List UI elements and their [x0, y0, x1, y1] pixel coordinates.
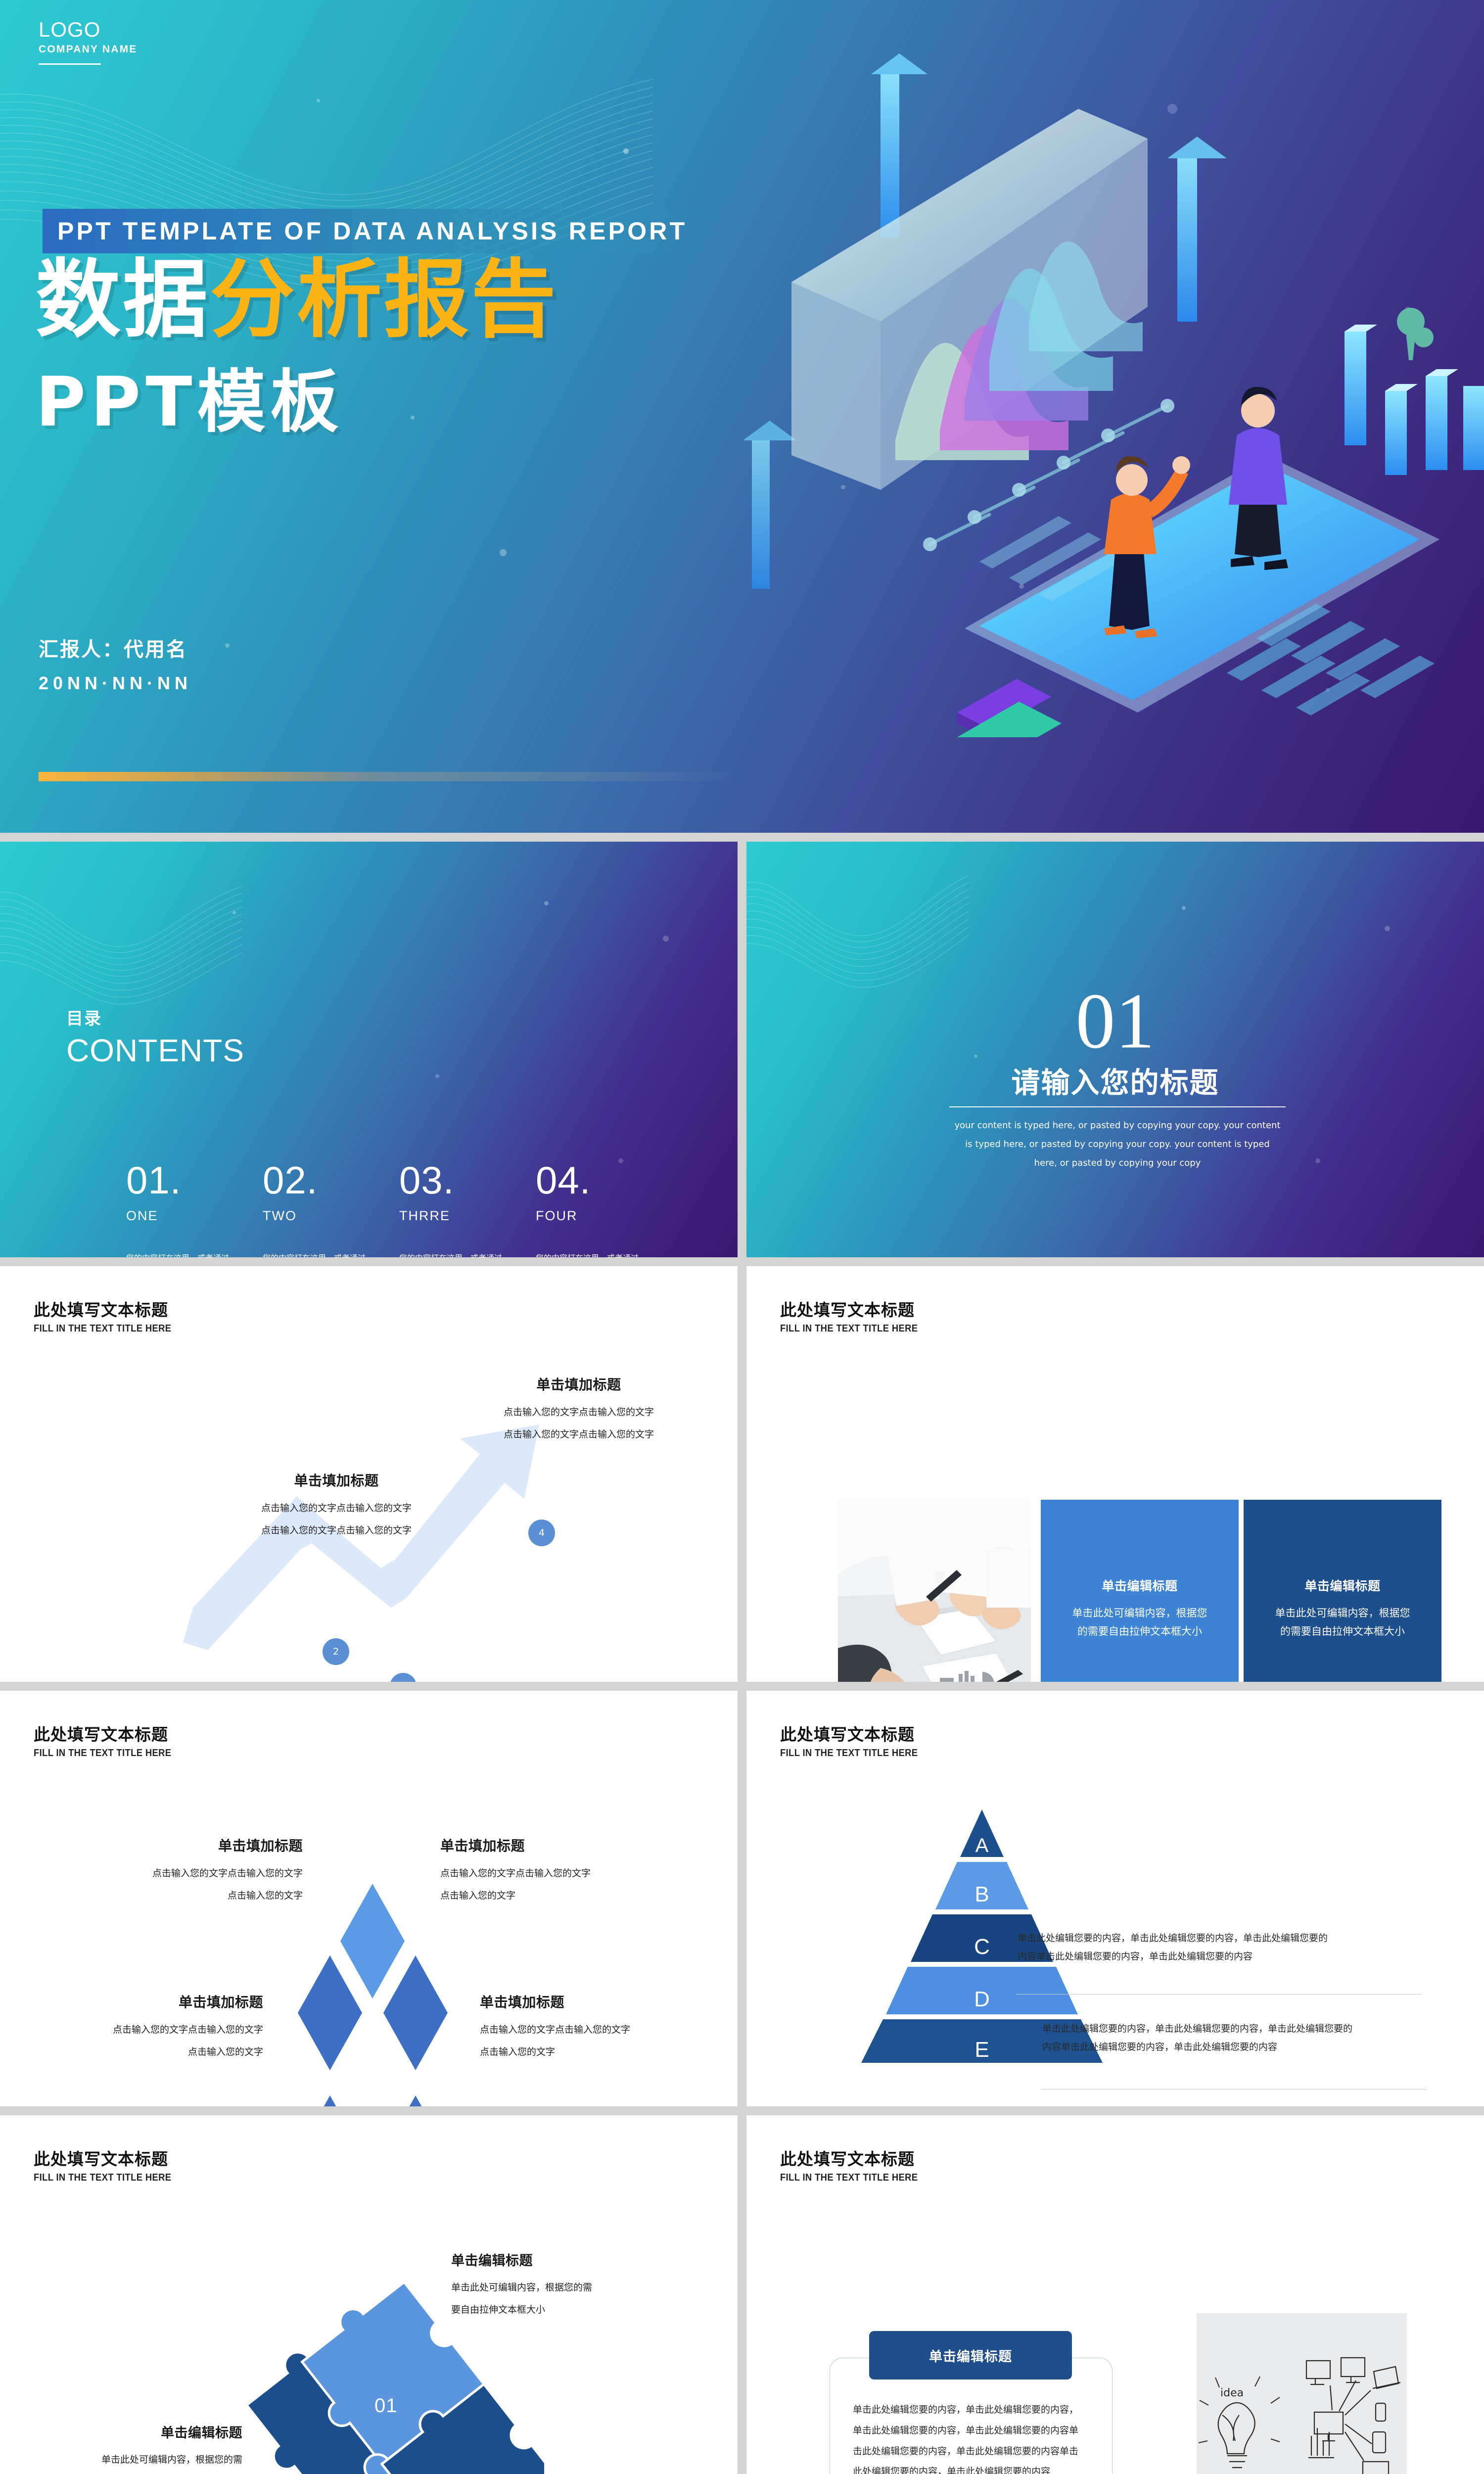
company-name-text: COMPANY NAME [39, 44, 137, 55]
cover-title-yellow-part: 分析报告 [210, 250, 558, 349]
caption-line-1: 点击输入您的文字点击输入您的文字 [465, 1402, 693, 1423]
pyramid-text-B-line2: 内容单击此处编辑您要的内容，单击此处编辑您要的内容 [1042, 2038, 1433, 2056]
puzzle-slide[interactable]: 此处填写文本标题 FILL IN THE TEXT TITLE HERE 01 … [0, 2115, 738, 2474]
logo-block: LOGO COMPANY NAME [39, 19, 137, 65]
slide-title-en: FILL IN THE TEXT TITLE HERE [34, 2172, 171, 2184]
diamond-shape-lower-right [383, 2095, 448, 2106]
card-1-line-1: 单击此处编辑您要的内容，单击此处编辑您要的内容， [853, 2400, 1100, 2421]
section-divider-rule [949, 1106, 1286, 1107]
toc-item-list: 01. ONE 您的内容打在这里，或者通过复制您的文本后，在此框中选择粘贴，并选… [126, 1161, 672, 1257]
puzzle-caption-2: 单击编辑标题 单击此处可编辑内容，根据您的需 要自由拉伸文本框大小 [30, 2422, 242, 2474]
slide-title-cn: 此处填写文本标题 [34, 1297, 184, 1321]
pyramid-text-B: 单击此处编辑您要的内容，单击此处编辑您要的内容，单击此处编辑您要的 内容单击此处… [1042, 2020, 1433, 2056]
cover-presenter: 汇报人：代用名 [39, 633, 187, 662]
caption-line-1: 点击输入您的文字点击输入您的文字 [480, 2019, 684, 2041]
diamond-shape-upper-left [298, 1955, 362, 2070]
svg-text:E: E [974, 2038, 989, 2062]
caption-line-1: 点击输入您的文字点击输入您的文字 [99, 1863, 303, 1884]
toc-item-number: 03. [399, 1161, 536, 1199]
cover-date: 20NN·NN·NN [39, 673, 192, 694]
cover-title-white-part: 数据 [36, 250, 210, 349]
slide-title-cn: 此处填写文本标题 [780, 1721, 930, 1745]
caption-line-1: 单击此处可编辑内容，根据您的需 [451, 2277, 664, 2298]
cover-subtitle-line: PPT模板 [36, 346, 343, 445]
slide-title-cn: 此处填写文本标题 [34, 2146, 184, 2170]
diamond-caption-4: 单击填加标题 点击输入您的文字点击输入您的文字 点击输入您的文字 [480, 1992, 684, 2063]
pyramid-divider-1 [1016, 1994, 1422, 1995]
pyramid-slide[interactable]: 此处填写文本标题 FILL IN THE TEXT TITLE HERE A B… [746, 1691, 1484, 2106]
caption-line-1: 点击输入您的文字点击输入您的文字 [59, 2019, 263, 2041]
card-1-line-3: 击此处编辑您要的内容，单击此处编辑您要的内容单击 [853, 2441, 1100, 2462]
toc-item-3[interactable]: 03. THRRE 您的内容打在这里，或者通过复制您的文本后，在此框中选择粘贴，… [399, 1161, 536, 1257]
toc-header: 目录 CONTENTS [66, 1005, 244, 1069]
toc-item-2[interactable]: 02. TWO 您的内容打在这里，或者通过复制您的文本后，在此框中选择粘贴，并选… [263, 1161, 399, 1257]
meeting-photo-illustration-icon [838, 1500, 1031, 1682]
toc-item-number: 04. [536, 1161, 672, 1199]
caption-heading: 单击填加标题 [480, 1992, 684, 2011]
slide-title-en: FILL IN THE TEXT TITLE HERE [780, 1323, 918, 1334]
rounded-card-1-body: 单击此处编辑您要的内容，单击此处编辑您要的内容， 单击此处编辑您要的内容，单击此… [853, 2400, 1100, 2474]
slide-row-4: 此处填写文本标题 FILL IN THE TEXT TITLE HERE 单击填… [0, 1691, 1484, 2106]
photo-boxes-slide[interactable]: 此处填写文本标题 FILL IN THE TEXT TITLE HERE [746, 1266, 1484, 1682]
slide-title-en: FILL IN THE TEXT TITLE HERE [34, 1748, 171, 1759]
blue-box-line-2: 的需要自由拉伸文本框大小 [1077, 1622, 1202, 1641]
cover-gradient-bar [39, 772, 830, 781]
isometric-data-illustration [732, 45, 1484, 737]
slide-title-cn: 此处填写文本标题 [780, 1297, 930, 1321]
blue-box-heading: 单击编辑标题 [1304, 1576, 1380, 1594]
toc-title-en: CONTENTS [66, 1032, 244, 1069]
caption-heading: 单击编辑标题 [30, 2422, 242, 2441]
caption-heading: 单击填加标题 [223, 1470, 450, 1490]
toc-item-number: 01. [126, 1161, 263, 1199]
cards-photo-slide[interactable]: 此处填写文本标题 FILL IN THE TEXT TITLE HERE 单击编… [746, 2115, 1484, 2474]
caption-line-2: 点击输入您的文字点击输入您的文字 [223, 1520, 450, 1541]
hand-drawing-diagram-icon: idea on [1197, 2313, 1407, 2474]
caption-line-2: 点击输入您的文字 [99, 1885, 303, 1906]
toc-item-name: ONE [126, 1208, 263, 1224]
caption-line-2: 要自由拉伸文本框大小 [451, 2299, 664, 2321]
puzzle-caption-1: 单击编辑标题 单击此处可编辑内容，根据您的需 要自由拉伸文本框大小 [451, 2250, 664, 2321]
arrow-node-2[interactable]: 2 [323, 1638, 349, 1665]
toc-item-number: 02. [263, 1161, 399, 1199]
ppt-template-preview-sheet: LOGO COMPANY NAME PPT TEMPLATE OF DATA A… [0, 0, 1484, 2474]
toc-item-desc: 您的内容打在这里，或者通过复制您的文本后，在此框中选择粘贴，并选择只保留文字。您… [536, 1250, 644, 1257]
pyramid-divider-2 [1041, 2089, 1427, 2090]
blue-box-heading: 单击编辑标题 [1102, 1576, 1177, 1594]
caption-line-2: 点击输入您的文字 [59, 2042, 263, 2063]
blue-box-1[interactable]: 单击编辑标题 单击此处可编辑内容，根据您 的需要自由拉伸文本框大小 [1041, 1500, 1239, 1682]
toc-title-cn: 目录 [66, 1005, 244, 1029]
blue-box-line-1: 单击此处可编辑内容，根据您 [1072, 1604, 1207, 1622]
diamond-shape-lower-left [298, 2095, 362, 2106]
caption-line-2: 点击输入您的文字 [440, 1885, 644, 1906]
cover-main-title: 数据分析报告 [36, 250, 558, 350]
caption-line-1: 点击输入您的文字点击输入您的文字 [440, 1863, 644, 1884]
diamond-diagram-slide[interactable]: 此处填写文本标题 FILL IN THE TEXT TITLE HERE 单击填… [0, 1691, 738, 2106]
toc-item-name: TWO [263, 1208, 399, 1224]
caption-line-1: 点击输入您的文字点击输入您的文字 [223, 1498, 450, 1519]
slide-row-5: 此处填写文本标题 FILL IN THE TEXT TITLE HERE 01 … [0, 2115, 1484, 2474]
toc-slide[interactable]: 目录 CONTENTS 01. ONE 您的内容打在这里，或者通过复制您的文本后… [0, 842, 738, 1257]
diamond-caption-3: 单击填加标题 点击输入您的文字点击输入您的文字 点击输入您的文字 [59, 1992, 263, 2063]
slide-title: 此处填写文本标题 FILL IN THE TEXT TITLE HERE [34, 1297, 184, 1334]
toc-item-name: THRRE [399, 1208, 536, 1224]
slide-title: 此处填写文本标题 FILL IN THE TEXT TITLE HERE [780, 2146, 930, 2184]
blue-box-line-2: 的需要自由拉伸文本框大小 [1280, 1622, 1405, 1641]
toc-item-desc: 您的内容打在这里，或者通过复制您的文本后，在此框中选择粘贴，并选择只保留文字。您… [263, 1250, 371, 1257]
svg-text:C: C [974, 1935, 990, 1959]
pyramid-text-B-line1: 单击此处编辑您要的内容，单击此处编辑您要的内容，单击此处编辑您要的 [1042, 2020, 1433, 2038]
toc-item-name: FOUR [536, 1208, 672, 1224]
slide-row-2: 目录 CONTENTS 01. ONE 您的内容打在这里，或者通过复制您的文本后… [0, 842, 1484, 1257]
pyramid-text-A: 单击此处编辑您要的内容，单击此处编辑您要的内容，单击此处编辑您要的 内容单击此处… [1018, 1929, 1428, 1966]
toc-item-4[interactable]: 04. FOUR 您的内容打在这里，或者通过复制您的文本后，在此框中选择粘贴，并… [536, 1161, 672, 1257]
caption-line-2: 点击输入您的文字点击输入您的文字 [465, 1424, 693, 1445]
arrow-node-4[interactable]: 4 [528, 1520, 555, 1546]
cover-banner-text: PPT TEMPLATE OF DATA ANALYSIS REPORT [57, 217, 687, 245]
caption-heading: 单击填加标题 [465, 1374, 693, 1394]
card-1-line-4: 此处编辑您要的内容，单击此处编辑您要的内容 [853, 2462, 1100, 2474]
svg-text:idea: idea [1220, 2387, 1244, 2399]
toc-item-desc: 您的内容打在这里，或者通过复制您的文本后，在此框中选择粘贴，并选择只保留文字。您… [126, 1250, 234, 1257]
section-divider-slide[interactable]: 01 请输入您的标题 your content is typed here, o… [746, 842, 1484, 1257]
diamond-shape-upper-right [383, 1955, 448, 2070]
svg-text:A: A [975, 1835, 989, 1856]
arrow-caption-4: 单击填加标题 点击输入您的文字点击输入您的文字 点击输入您的文字点击输入您的文字 [465, 1374, 693, 1445]
card-1-line-2: 单击此处编辑您要的内容，单击此处编辑您要的内容单 [853, 2421, 1100, 2441]
section-title: 请输入您的标题 [746, 1059, 1484, 1101]
slide-title: 此处填写文本标题 FILL IN THE TEXT TITLE HERE [780, 1721, 930, 1759]
caption-line-2: 点击输入您的文字 [480, 2042, 684, 2063]
pyramid-text-A-line2: 内容单击此处编辑您要的内容，单击此处编辑您要的内容 [1018, 1948, 1428, 1966]
cover-banner: PPT TEMPLATE OF DATA ANALYSIS REPORT [43, 209, 700, 253]
caption-heading: 单击填加标题 [440, 1835, 644, 1855]
caption-line-1: 单击此处可编辑内容，根据您的需 [30, 2449, 242, 2471]
slide-title-cn: 此处填写文本标题 [34, 1721, 184, 1745]
section-description: your content is typed here, or pasted by… [954, 1116, 1281, 1172]
caption-heading: 单击填加标题 [59, 1992, 263, 2011]
slide-title: 此处填写文本标题 FILL IN THE TEXT TITLE HERE [780, 1297, 930, 1334]
idea-sketch-photo: idea on [1197, 2313, 1407, 2474]
slide-title: 此处填写文本标题 FILL IN THE TEXT TITLE HERE [34, 2146, 184, 2184]
diamond-caption-2: 单击填加标题 点击输入您的文字点击输入您的文字 点击输入您的文字 [440, 1835, 644, 1906]
arrow-growth-slide[interactable]: 此处填写文本标题 FILL IN THE TEXT TITLE HERE 1 2… [0, 1266, 738, 1682]
puzzle-number-01: 01 [374, 2395, 398, 2417]
caption-heading: 单击编辑标题 [451, 2250, 664, 2269]
pyramid-text-A-line1: 单击此处编辑您要的内容，单击此处编辑您要的内容，单击此处编辑您要的 [1018, 1929, 1428, 1948]
business-meeting-photo [838, 1500, 1031, 1682]
caption-line-2: 要自由拉伸文本框大小 [30, 2472, 242, 2474]
svg-text:B: B [974, 1882, 989, 1906]
toc-item-1[interactable]: 01. ONE 您的内容打在这里，或者通过复制您的文本后，在此框中选择粘贴，并选… [126, 1161, 263, 1257]
slide-row-3: 此处填写文本标题 FILL IN THE TEXT TITLE HERE 1 2… [0, 1266, 1484, 1682]
rounded-card-1-heading[interactable]: 单击编辑标题 [869, 2331, 1072, 2379]
caption-heading: 单击填加标题 [99, 1835, 303, 1855]
blue-box-2[interactable]: 单击编辑标题 单击此处可编辑内容，根据您 的需要自由拉伸文本框大小 [1244, 1500, 1441, 1682]
svg-text:D: D [974, 1987, 990, 2011]
logo-text: LOGO [39, 19, 137, 41]
arrow-node-3[interactable]: 3 [390, 1673, 417, 1682]
section-number: 01 [746, 981, 1484, 1060]
slide-title: 此处填写文本标题 FILL IN THE TEXT TITLE HERE [34, 1721, 184, 1759]
slide-title-en: FILL IN THE TEXT TITLE HERE [34, 1323, 171, 1334]
slide-title-en: FILL IN THE TEXT TITLE HERE [780, 2172, 918, 2184]
toc-item-desc: 您的内容打在这里，或者通过复制您的文本后，在此框中选择粘贴，并选择只保留文字。您… [399, 1250, 507, 1257]
blue-box-line-1: 单击此处可编辑内容，根据您 [1275, 1604, 1410, 1622]
logo-underline [39, 63, 101, 65]
arrow-caption-2: 单击填加标题 点击输入您的文字点击输入您的文字 点击输入您的文字点击输入您的文字 [223, 1470, 450, 1541]
diamond-caption-1: 单击填加标题 点击输入您的文字点击输入您的文字 点击输入您的文字 [99, 1835, 303, 1906]
slide-title-en: FILL IN THE TEXT TITLE HERE [780, 1748, 918, 1759]
slide-title-cn: 此处填写文本标题 [780, 2146, 930, 2170]
cover-slide[interactable]: LOGO COMPANY NAME PPT TEMPLATE OF DATA A… [0, 0, 1484, 833]
